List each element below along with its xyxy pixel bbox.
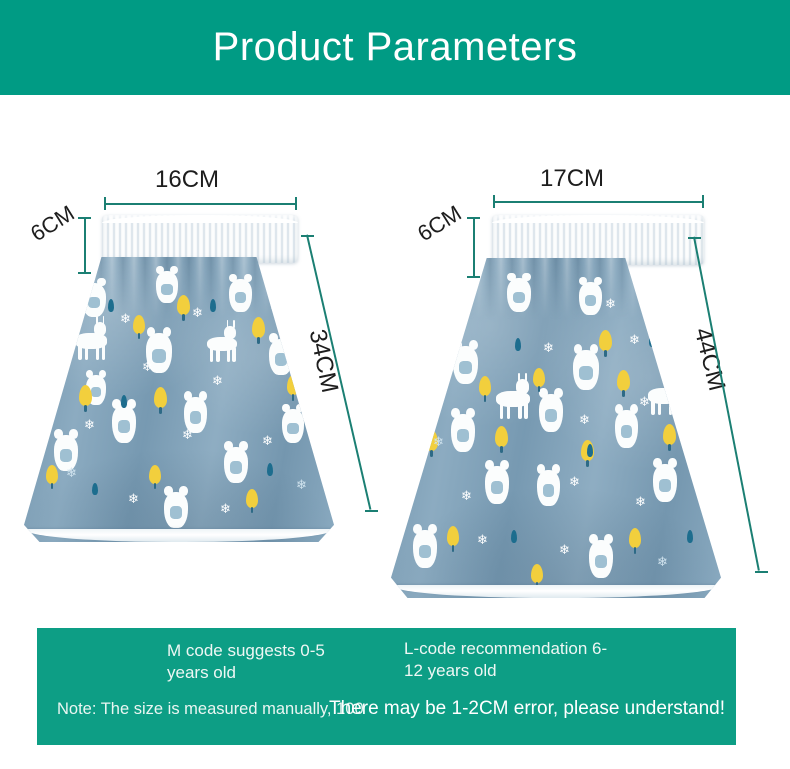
fabric-gathers — [391, 258, 721, 320]
dimension-tick — [493, 195, 495, 208]
dimension-tick — [365, 510, 378, 512]
dimension-line-waistband-l — [473, 217, 475, 277]
dimension-tick — [78, 217, 91, 219]
dimension-tick — [295, 197, 297, 210]
garment-l: ❄ ❄ ❄ ❄ ❄ ❄ ❄ ❄ ❄ ❄ ❄ ❄ ❄ 17CM 6CM — [385, 205, 735, 665]
bear-motif — [44, 347, 68, 383]
size-note-l: L-code recommendation 6- 12 years old — [404, 638, 664, 682]
page-title: Product Parameters — [0, 0, 790, 95]
dimension-tick — [301, 235, 314, 237]
dimension-label-waistband-m: 6CM — [26, 200, 79, 247]
dimension-line-waist-width-m — [104, 203, 296, 205]
bear-motif — [697, 456, 719, 490]
dimension-line-waistband-m — [84, 217, 86, 273]
dimension-tick — [702, 195, 704, 208]
skirt-body-m: ❄ ❄ ❄ ❄ ❄ ❄ ❄ ❄ ❄ ❄ ❄ ❄ — [24, 257, 334, 542]
fabric-gathers — [24, 257, 334, 319]
dimension-label-waist-width-m: 16CM — [155, 166, 219, 194]
dimension-tick — [755, 571, 768, 573]
dimension-line-waist-width-l — [493, 201, 703, 203]
dimension-label-length-l: 44CM — [688, 325, 731, 394]
waistband-top-edge — [492, 215, 704, 223]
yellow-tree-motif — [677, 358, 690, 379]
garment-m: ❄ ❄ ❄ ❄ ❄ ❄ ❄ ❄ ❄ ❄ ❄ ❄ 16CM 6CM — [20, 215, 350, 635]
measurement-note-part-b: There may be 1-2CM error, please underst… — [329, 698, 725, 720]
yellow-tree-motif — [67, 305, 80, 325]
waistband-top-edge — [102, 215, 298, 223]
dimension-tick — [688, 237, 701, 239]
dimension-tick — [78, 272, 91, 274]
size-note-m: M code suggests 0-5 years old — [167, 640, 397, 684]
product-stage: ❄ ❄ ❄ ❄ ❄ ❄ ❄ ❄ ❄ ❄ ❄ ❄ 16CM 6CM — [0, 95, 790, 625]
dimension-label-waistband-l: 6CM — [413, 200, 466, 247]
product-parameters-infographic: Product Parameters — [0, 0, 790, 769]
bear-motif — [641, 274, 664, 308]
dimension-tick — [467, 276, 480, 278]
dimension-tick — [104, 197, 106, 210]
dimension-tick — [467, 217, 480, 219]
waistband-m — [102, 215, 298, 263]
measurement-note-part-a: Note: The size is measured manually, 100 — [57, 700, 364, 719]
skirt-body-l: ❄ ❄ ❄ ❄ ❄ ❄ ❄ ❄ ❄ ❄ ❄ ❄ ❄ — [391, 258, 721, 598]
dimension-label-length-m: 34CM — [303, 327, 344, 395]
dimension-label-waist-width-l: 17CM — [540, 165, 604, 193]
waistband-l — [492, 215, 704, 265]
